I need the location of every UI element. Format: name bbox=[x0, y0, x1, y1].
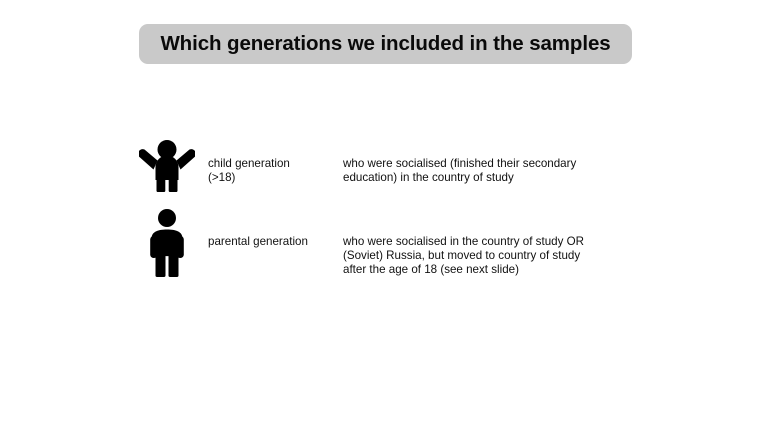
parental-generation-label: parental generation bbox=[208, 235, 340, 249]
slide-canvas: Which generations we included in the sam… bbox=[0, 0, 770, 433]
slide-title-banner: Which generations we included in the sam… bbox=[139, 24, 632, 64]
child-figure-icon bbox=[139, 140, 195, 192]
parental-description-line-1: who were socialised in the country of st… bbox=[343, 235, 610, 249]
generation-row-parental: parental generation who were socialised … bbox=[137, 209, 610, 278]
child-description-cell: who were socialised (finished their seco… bbox=[340, 140, 610, 185]
child-description-line-1: who were socialised (finished their seco… bbox=[343, 157, 610, 171]
parental-description-cell: who were socialised in the country of st… bbox=[340, 209, 610, 278]
child-generation-label: child generation bbox=[208, 157, 340, 171]
page-title: Which generations we included in the sam… bbox=[160, 34, 610, 55]
adult-figure-icon bbox=[146, 209, 188, 277]
child-description-line-2: education) in the country of study bbox=[343, 171, 610, 185]
child-label-cell: child generation (>18) bbox=[197, 140, 340, 185]
generation-row-child: child generation (>18) who were socialis… bbox=[137, 140, 610, 192]
parental-label-cell: parental generation bbox=[197, 209, 340, 249]
parental-description-line-3: after the age of 18 (see next slide) bbox=[343, 263, 610, 277]
child-generation-age: (>18) bbox=[208, 171, 340, 185]
parental-description-line-2: (Soviet) Russia, but moved to country of… bbox=[343, 249, 610, 263]
adult-icon-cell bbox=[137, 209, 197, 277]
child-icon-cell bbox=[137, 140, 197, 192]
